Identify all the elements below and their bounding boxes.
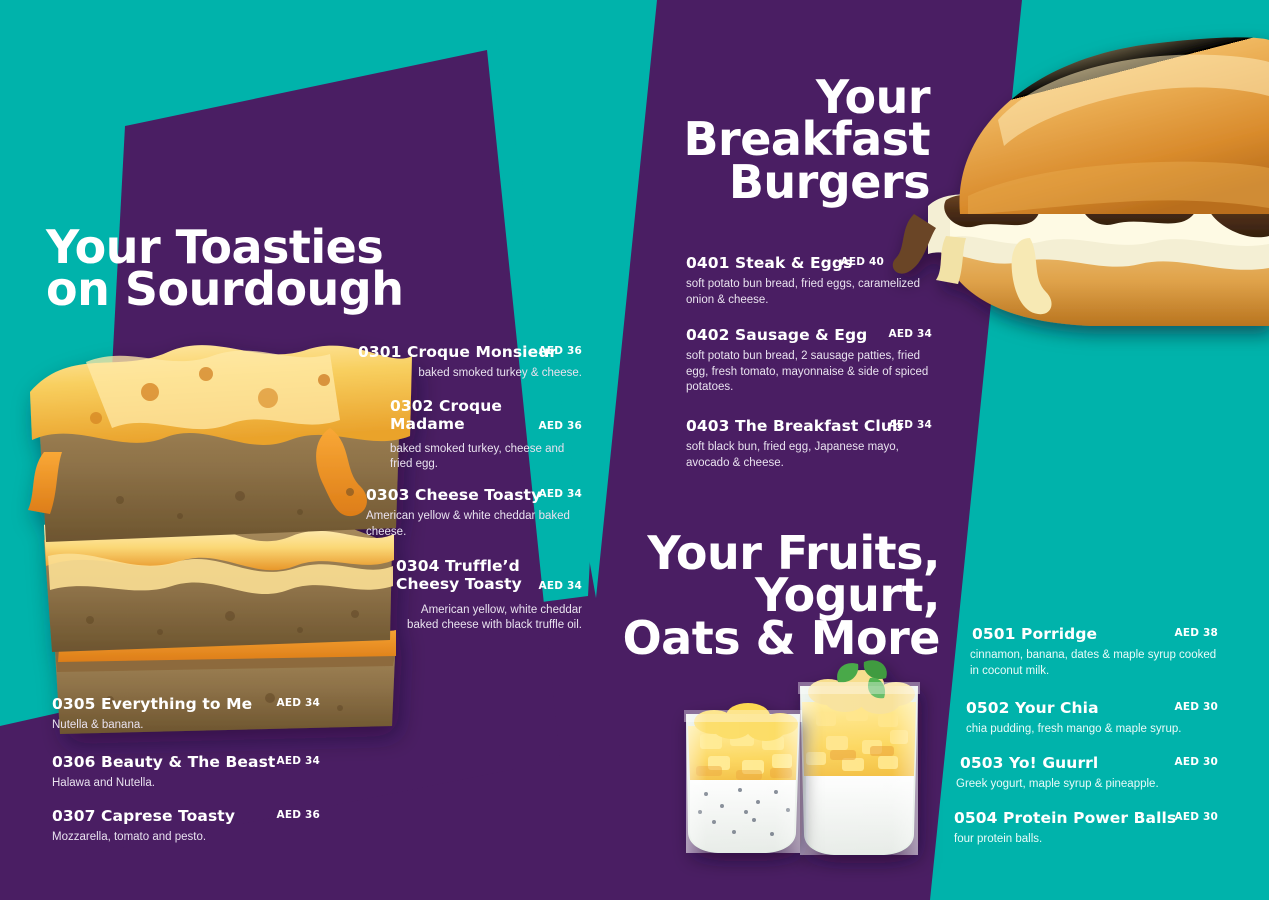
section-title-toasties: Your Toasties on Sourdough xyxy=(46,226,404,311)
menu-item-0402[interactable]: 0402 Sausage & Egg AED 34 soft potato bu… xyxy=(686,327,932,396)
menu-item-price: AED 36 xyxy=(277,809,320,821)
menu-item-name: 0503 Yo! Guurrl xyxy=(960,755,1098,773)
menu-item-head: 0305 Everything to Me AED 34 xyxy=(52,696,320,714)
menu-page: Your Toasties on Sourdough 0301 Croque M… xyxy=(0,0,1269,900)
menu-item-desc: American yellow, white cheddar baked che… xyxy=(396,603,582,634)
menu-item-0403[interactable]: 0403 The Breakfast Club AED 34 soft blac… xyxy=(686,418,932,471)
menu-item-head: 0302 Croque Madame AED 36 xyxy=(390,398,582,434)
menu-item-0304[interactable]: 0304 Truffle’d Cheesy Toasty AED 34 Amer… xyxy=(396,558,582,634)
menu-item-head: 0303 Cheese Toasty AED 34 xyxy=(366,487,582,505)
menu-item-head: 0307 Caprese Toasty AED 36 xyxy=(52,808,320,826)
menu-item-desc: soft black bun, fried egg, Japanese mayo… xyxy=(686,440,932,471)
menu-item-head: 0504 Protein Power Balls AED 30 xyxy=(954,810,1218,828)
menu-item-name: 0501 Porridge xyxy=(972,626,1097,644)
menu-item-price: AED 34 xyxy=(539,488,582,500)
menu-item-price: AED 34 xyxy=(277,697,320,709)
toastie-stack-photo xyxy=(28,345,412,734)
menu-item-desc: soft potato bun bread, 2 sausage patties… xyxy=(686,349,932,396)
menu-item-desc: cinnamon, banana, dates & maple syrup co… xyxy=(970,648,1218,679)
menu-item-name: 0303 Cheese Toasty xyxy=(366,487,541,505)
menu-item-desc: baked smoked turkey, cheese and fried eg… xyxy=(390,442,582,473)
menu-item-desc: Halawa and Nutella. xyxy=(52,776,320,792)
menu-item-0504[interactable]: 0504 Protein Power Balls AED 30 four pro… xyxy=(954,810,1218,848)
menu-item-name: 0304 Truffle’d Cheesy Toasty xyxy=(396,558,522,594)
menu-item-price: AED 34 xyxy=(889,419,932,431)
menu-item-0305[interactable]: 0305 Everything to Me AED 34 Nutella & b… xyxy=(52,696,320,734)
menu-item-price: AED 30 xyxy=(1175,756,1218,768)
menu-item-price: AED 40 xyxy=(841,256,884,268)
menu-item-desc: Mozzarella, tomato and pesto. xyxy=(52,830,320,846)
menu-item-name: 0401 Steak & Eggs xyxy=(686,255,852,273)
menu-item-0401[interactable]: 0401 Steak & Eggs AED 40 soft potato bun… xyxy=(686,255,932,308)
menu-item-head: 0501 Porridge AED 38 xyxy=(972,626,1218,644)
menu-item-head: 0503 Yo! Guurrl AED 30 xyxy=(960,755,1218,773)
menu-item-0502[interactable]: 0502 Your Chia AED 30 chia pudding, fres… xyxy=(966,700,1218,738)
menu-item-desc: American yellow & white cheddar baked ch… xyxy=(366,509,582,540)
menu-item-name: 0307 Caprese Toasty xyxy=(52,808,235,826)
menu-item-head: 0502 Your Chia AED 30 xyxy=(966,700,1218,718)
menu-item-0302[interactable]: 0302 Croque Madame AED 36 baked smoked t… xyxy=(390,398,582,473)
menu-item-desc: soft potato bun bread, fried eggs, caram… xyxy=(686,277,932,308)
menu-item-head: 0304 Truffle’d Cheesy Toasty AED 34 xyxy=(396,558,582,594)
menu-item-name: 0302 Croque Madame xyxy=(390,398,502,434)
menu-item-desc: Nutella & banana. xyxy=(52,718,320,734)
menu-item-0501[interactable]: 0501 Porridge AED 38 cinnamon, banana, d… xyxy=(972,626,1218,679)
menu-item-price: AED 36 xyxy=(539,345,582,357)
menu-item-head: 0301 Croque Monsieur AED 36 xyxy=(358,344,582,362)
section-title-burgers: Your Breakfast Burgers xyxy=(620,76,930,203)
menu-item-desc: chia pudding, fresh mango & maple syrup. xyxy=(966,722,1218,738)
menu-item-head: 0402 Sausage & Egg AED 34 xyxy=(686,327,932,345)
menu-item-price: AED 34 xyxy=(277,755,320,767)
section-title-fruits: Your Fruits, Yogurt, Oats & More xyxy=(620,532,940,659)
menu-item-desc: four protein balls. xyxy=(954,832,1218,848)
menu-item-price: AED 36 xyxy=(539,420,582,432)
menu-item-name: 0502 Your Chia xyxy=(966,700,1099,718)
menu-item-0306[interactable]: 0306 Beauty & The Beast AED 34 Halawa an… xyxy=(52,754,320,792)
menu-item-price: AED 30 xyxy=(1175,701,1218,713)
menu-item-head: 0401 Steak & Eggs AED 40 xyxy=(686,255,932,273)
menu-item-name: 0301 Croque Monsieur xyxy=(358,344,557,362)
menu-item-price: AED 30 xyxy=(1175,811,1218,823)
menu-item-desc: Greek yogurt, maple syrup & pineapple. xyxy=(956,777,1218,793)
menu-item-0503[interactable]: 0503 Yo! Guurrl AED 30 Greek yogurt, map… xyxy=(960,755,1218,793)
menu-item-0307[interactable]: 0307 Caprese Toasty AED 36 Mozzarella, t… xyxy=(52,808,320,846)
menu-item-head: 0306 Beauty & The Beast AED 34 xyxy=(52,754,320,772)
menu-item-name: 0305 Everything to Me xyxy=(52,696,252,714)
menu-item-desc: baked smoked turkey & cheese. xyxy=(358,366,582,382)
menu-item-name: 0306 Beauty & The Beast xyxy=(52,754,275,772)
menu-item-0303[interactable]: 0303 Cheese Toasty AED 34 American yello… xyxy=(366,487,582,540)
menu-item-price: AED 38 xyxy=(1175,627,1218,639)
menu-item-name: 0403 The Breakfast Club xyxy=(686,418,903,436)
menu-item-head: 0403 The Breakfast Club AED 34 xyxy=(686,418,932,436)
menu-item-price: AED 34 xyxy=(889,328,932,340)
menu-item-name: 0402 Sausage & Egg xyxy=(686,327,867,345)
menu-item-0301[interactable]: 0301 Croque Monsieur AED 36 baked smoked… xyxy=(358,344,582,382)
menu-item-price: AED 34 xyxy=(539,580,582,592)
menu-item-name: 0504 Protein Power Balls xyxy=(954,810,1176,828)
